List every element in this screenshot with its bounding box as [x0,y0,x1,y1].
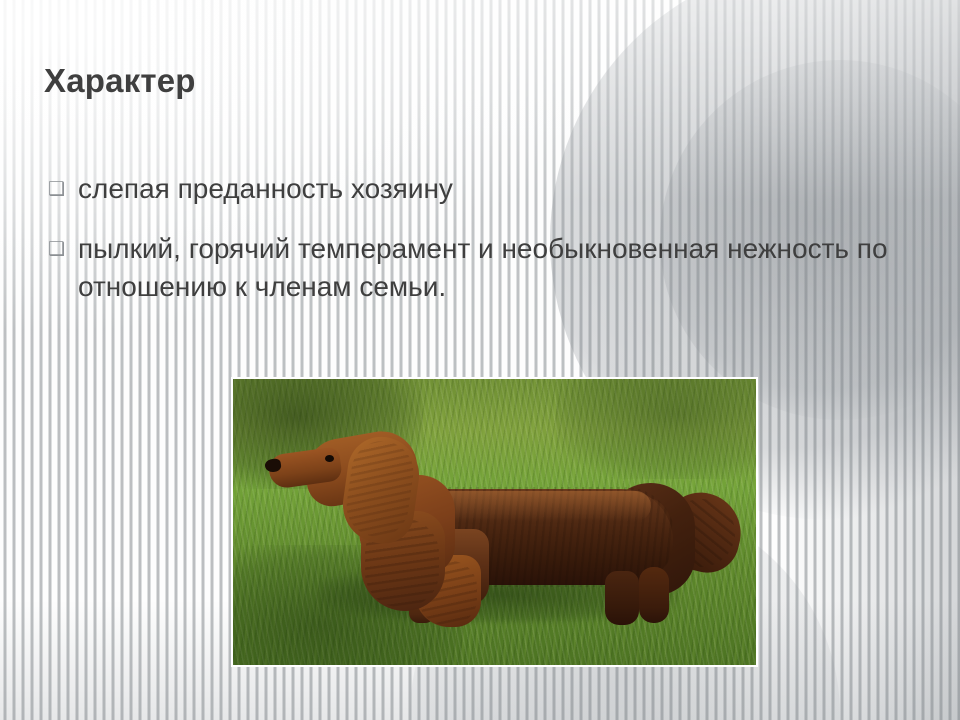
bullet-marker-icon: ❑ [44,230,78,268]
bullet-text: пылкий, горячий темперамент и необыкнове… [78,230,908,306]
dog-rear-leg-near [639,567,669,623]
bullet-text: слепая преданность хозяину [78,170,453,208]
slide-photo [231,377,758,667]
dachshund-photo-image [233,379,756,665]
slide-title: Характер [44,62,196,100]
bullet-list: ❑ слепая преданность хозяину ❑ пылкий, г… [44,170,924,328]
list-item: ❑ пылкий, горячий темперамент и необыкно… [44,230,924,306]
list-item: ❑ слепая преданность хозяину [44,170,924,208]
dog-rear-leg-far [605,571,639,625]
dachshund-dog [233,379,756,665]
bullet-marker-icon: ❑ [44,170,78,208]
dog-eye [325,455,334,462]
slide-content: Характер ❑ слепая преданность хозяину ❑ … [0,0,960,720]
presentation-slide: Характер ❑ слепая преданность хозяину ❑ … [0,0,960,720]
